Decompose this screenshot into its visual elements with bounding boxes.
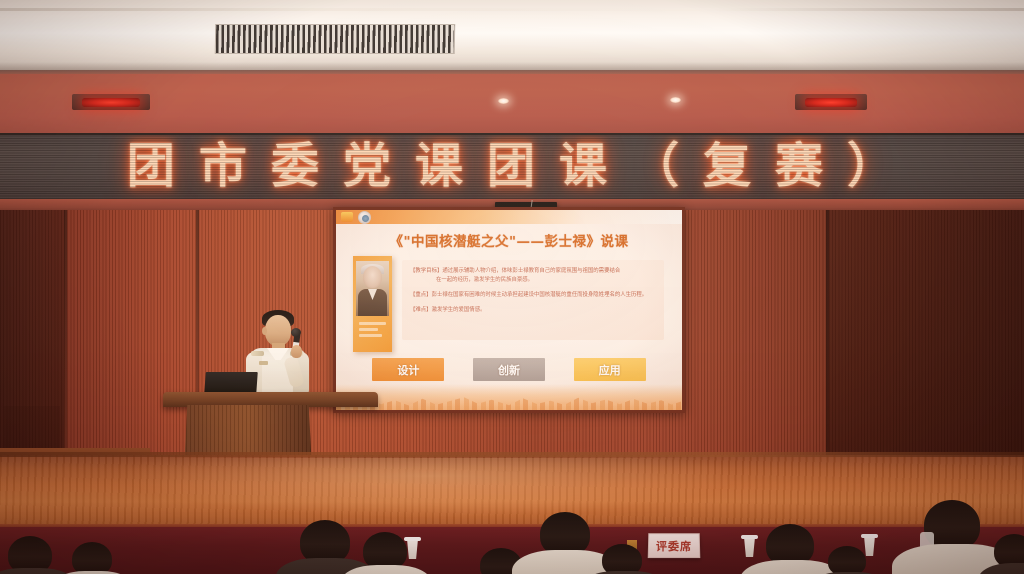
book-cover-title <box>359 322 386 340</box>
slide-skyline-decoration <box>336 384 682 410</box>
stage-front-trim <box>0 452 1024 457</box>
banner-char: 委 <box>271 142 321 190</box>
slide-text-line: 【难点】激发学生的爱国情感。 <box>410 306 656 315</box>
slide-portrait-book <box>353 256 392 352</box>
banner-char: 课 <box>415 142 465 190</box>
banner-char: 复 <box>703 142 753 190</box>
red-light-left <box>82 98 140 107</box>
slide-header-band <box>336 210 682 224</box>
slide-emblem-icon <box>358 211 371 224</box>
presenter-badge <box>259 361 268 365</box>
slide-button-design[interactable]: 设计 <box>372 358 444 381</box>
banner-char: 团 <box>127 142 177 190</box>
presenter-ear <box>262 327 267 335</box>
wall-panel-right-dark <box>826 210 1024 460</box>
stage-light-reflection <box>120 458 740 518</box>
audience-head <box>602 544 642 574</box>
banner-char: （ <box>631 142 681 190</box>
slide-text-line: 在一起的经历，激发学生的民族自豪感。 <box>410 276 656 285</box>
slide-title: 《"中国核潜艇之父"——彭士禄》说课 <box>336 230 682 250</box>
presenter-head <box>265 315 291 346</box>
paper-cup-lid <box>861 534 878 538</box>
portrait-photo <box>356 261 389 316</box>
podium-laptop <box>204 372 258 394</box>
wall-band-top-edge <box>0 70 1024 74</box>
red-light-right <box>805 98 857 107</box>
portrait-face <box>363 266 382 288</box>
slide-text-line: 【教学目标】通过展示辅助人物介绍，体味彭士禄教育自己的家庭氛围与祖国的需要结合 <box>410 267 656 276</box>
audience-head <box>72 542 112 574</box>
slide-logo-icon <box>341 212 353 222</box>
slide-button-innovate[interactable]: 创新 <box>473 358 545 381</box>
projection-screen: 《"中国核潜艇之父"——彭士禄》说课 【教学目标】通过展示辅助人物介绍，体味彭士… <box>336 210 682 410</box>
paper-cup-lid <box>404 537 421 541</box>
judge-sign-label: 评委席 <box>656 538 692 554</box>
microphone-head-icon <box>291 328 301 337</box>
slide-button-row: 设计 创新 应用 <box>336 358 682 381</box>
slide-text-panel: 【教学目标】通过展示辅助人物介绍，体味彭士禄教育自己的家庭氛围与祖国的需要结合 … <box>402 260 664 340</box>
upper-wall-band <box>0 70 1024 136</box>
slide-text-line: 【重点】彭士禄在国家有困难的时候主动承担起建设中国核潜艇的重任而投身隐姓埋名的人… <box>410 291 656 300</box>
audience-head <box>828 546 866 574</box>
presenter-hand <box>291 345 302 358</box>
paper-cup-lid <box>741 535 758 539</box>
ceiling-seam <box>0 8 1024 11</box>
wood-wall-seam-1 <box>64 210 67 460</box>
judge-seat-sign: 评委席 <box>648 533 701 558</box>
air-vent-grille <box>215 24 456 54</box>
banner-char: 团 <box>487 142 537 190</box>
presenter-epaulet-left <box>251 351 264 356</box>
auditorium-photo: 团市委党课团课（复赛） 《"中国核潜艇之父"——彭士禄》说课 <box>0 0 1024 574</box>
banner-char: 课 <box>559 142 609 190</box>
banner-char: 赛 <box>775 142 825 190</box>
banner-char: 党 <box>343 142 393 190</box>
banner-char: 市 <box>199 142 249 190</box>
podium-top <box>163 392 378 407</box>
slide-button-apply[interactable]: 应用 <box>574 358 646 381</box>
ceiling-spot-light-a <box>498 98 509 104</box>
ceiling-spot-light-b <box>670 97 681 103</box>
led-banner: 团市委党课团课（复赛） <box>0 133 1024 201</box>
ceiling <box>0 0 1024 72</box>
banner-char: ） <box>847 142 897 190</box>
banner-headline: 团市委党课团课（复赛） <box>0 135 1024 199</box>
